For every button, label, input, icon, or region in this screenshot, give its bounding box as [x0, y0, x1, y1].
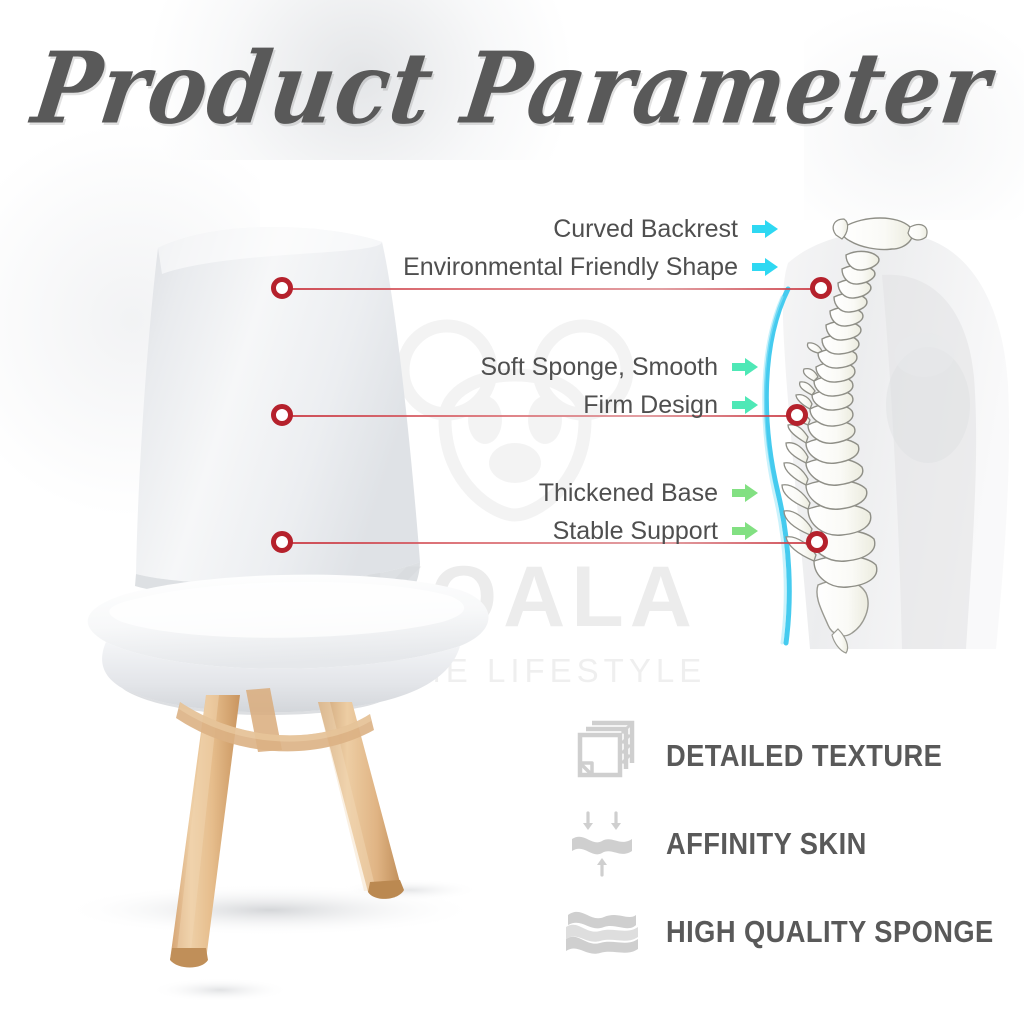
feature-row-affinity-skin: AFFINITY SKIN	[558, 800, 978, 888]
callout-backrest-line-1: Curved Backrest	[553, 210, 738, 248]
callout-base-row-1: Thickened Base	[460, 474, 760, 512]
right-arrow-icon	[750, 256, 780, 278]
callout-sponge: Soft Sponge, Smooth Firm Design	[400, 348, 760, 424]
stacked-sheets-icon	[558, 719, 644, 793]
callout-marker-backrest-right	[810, 277, 832, 299]
product-parameter-infographic: Product Parameter KOALA HOME LIFESTYLE	[0, 0, 1024, 1024]
page-title: Product Parameter	[0, 30, 1024, 146]
callout-marker-sponge-left	[271, 404, 293, 426]
feature-list: DETAILED TEXTURE AFFINITY SKIN	[558, 712, 978, 976]
feature-label-high-quality-sponge: HIGH QUALITY SPONGE	[666, 914, 994, 950]
right-arrow-icon	[750, 218, 780, 240]
feature-label-affinity-skin: AFFINITY SKIN	[666, 826, 867, 862]
right-arrow-icon	[730, 356, 760, 378]
callout-sponge-row-1: Soft Sponge, Smooth	[400, 348, 760, 386]
callout-line-backrest	[288, 288, 822, 290]
callout-backrest: Curved Backrest Environmental Friendly S…	[320, 210, 780, 286]
right-arrow-icon	[730, 520, 760, 542]
callout-marker-base-right	[806, 531, 828, 553]
spine-anatomy-image	[752, 205, 1024, 655]
callout-base-row-2: Stable Support	[460, 512, 760, 550]
callout-marker-sponge-right	[786, 404, 808, 426]
stacked-sponge-layers-icon	[558, 895, 644, 969]
callout-backrest-line-2: Environmental Friendly Shape	[403, 248, 738, 286]
callout-backrest-row-2: Environmental Friendly Shape	[320, 248, 780, 286]
callout-marker-backrest-left	[271, 277, 293, 299]
feature-label-detailed-texture: DETAILED TEXTURE	[666, 738, 942, 774]
callout-backrest-row-1: Curved Backrest	[320, 210, 780, 248]
right-arrow-icon	[730, 394, 760, 416]
callout-base: Thickened Base Stable Support	[460, 474, 760, 550]
feature-row-high-quality-sponge: HIGH QUALITY SPONGE	[558, 888, 978, 976]
callout-sponge-row-2: Firm Design	[400, 386, 760, 424]
wavy-cushion-pressure-icon	[558, 807, 644, 881]
callout-sponge-line-2: Firm Design	[583, 386, 718, 424]
feature-row-detailed-texture: DETAILED TEXTURE	[558, 712, 978, 800]
product-chair-image	[30, 190, 530, 1020]
callout-sponge-line-1: Soft Sponge, Smooth	[480, 348, 718, 386]
right-arrow-icon	[730, 482, 760, 504]
callout-base-line-2: Stable Support	[553, 512, 718, 550]
callout-marker-base-left	[271, 531, 293, 553]
callout-base-line-1: Thickened Base	[539, 474, 718, 512]
